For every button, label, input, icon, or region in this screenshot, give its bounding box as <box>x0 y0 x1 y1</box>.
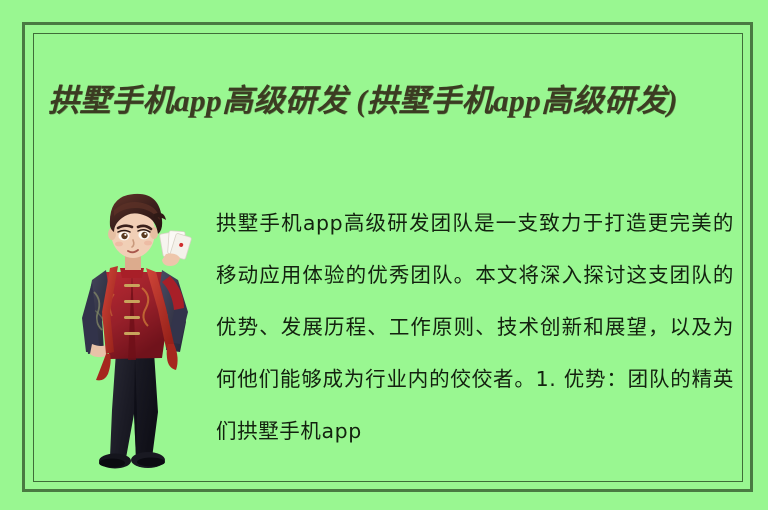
article-card: 拱墅手机app高级研发 (拱墅手机app高级研发) <box>0 0 768 510</box>
character-illustration <box>62 176 212 472</box>
article-body-text: 拱墅手机app高级研发团队是一支致力于打造更完美的移动应用体验的优秀团队。本文将… <box>216 197 734 457</box>
playing-cards <box>159 231 191 266</box>
trousers <box>110 352 158 459</box>
head <box>108 194 166 258</box>
page-title: 拱墅手机app高级研发 (拱墅手机app高级研发) <box>48 79 708 122</box>
shoes <box>99 452 165 469</box>
